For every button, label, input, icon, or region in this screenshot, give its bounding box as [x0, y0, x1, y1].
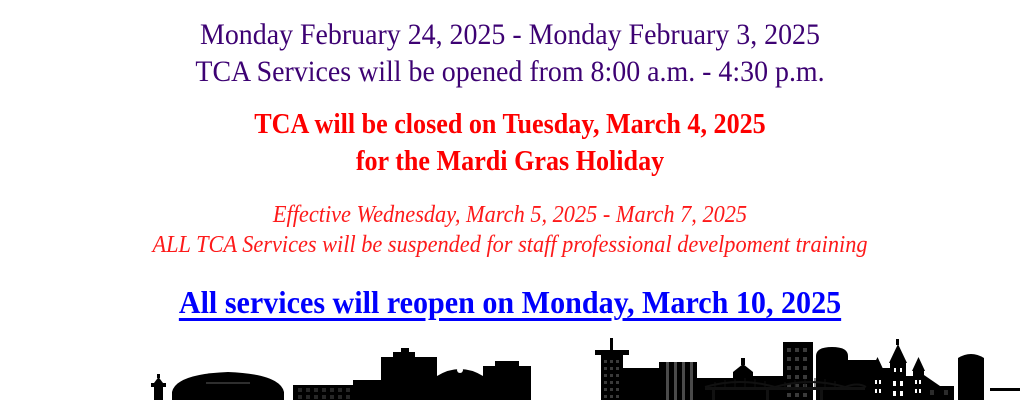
new-orleans-skyline-icon — [0, 330, 1020, 400]
regular-hours-block: Monday February 24, 2025 - Monday Februa… — [0, 20, 1020, 87]
closure-reason-line: for the Mardi Gras Holiday — [51, 147, 969, 176]
reopen-block: All services will reopen on Monday, Marc… — [0, 286, 1020, 318]
suspension-block: Effective Wednesday, March 5, 2025 - Mar… — [0, 203, 1020, 257]
service-hours-notice: Monday February 24, 2025 - Monday Februa… — [0, 0, 1020, 400]
regular-hours-time-line: TCA Services will be opened from 8:00 a.… — [36, 57, 985, 87]
regular-hours-date-line: Monday February 24, 2025 - Monday Februa… — [36, 20, 985, 50]
suspension-detail-line: ALL TCA Services will be suspended for s… — [36, 233, 985, 257]
reopen-date-line: All services will reopen on Monday, Marc… — [31, 286, 990, 318]
closure-date-line: TCA will be closed on Tuesday, March 4, … — [51, 110, 969, 139]
suspension-date-line: Effective Wednesday, March 5, 2025 - Mar… — [36, 203, 985, 227]
closure-block: TCA will be closed on Tuesday, March 4, … — [0, 110, 1020, 176]
